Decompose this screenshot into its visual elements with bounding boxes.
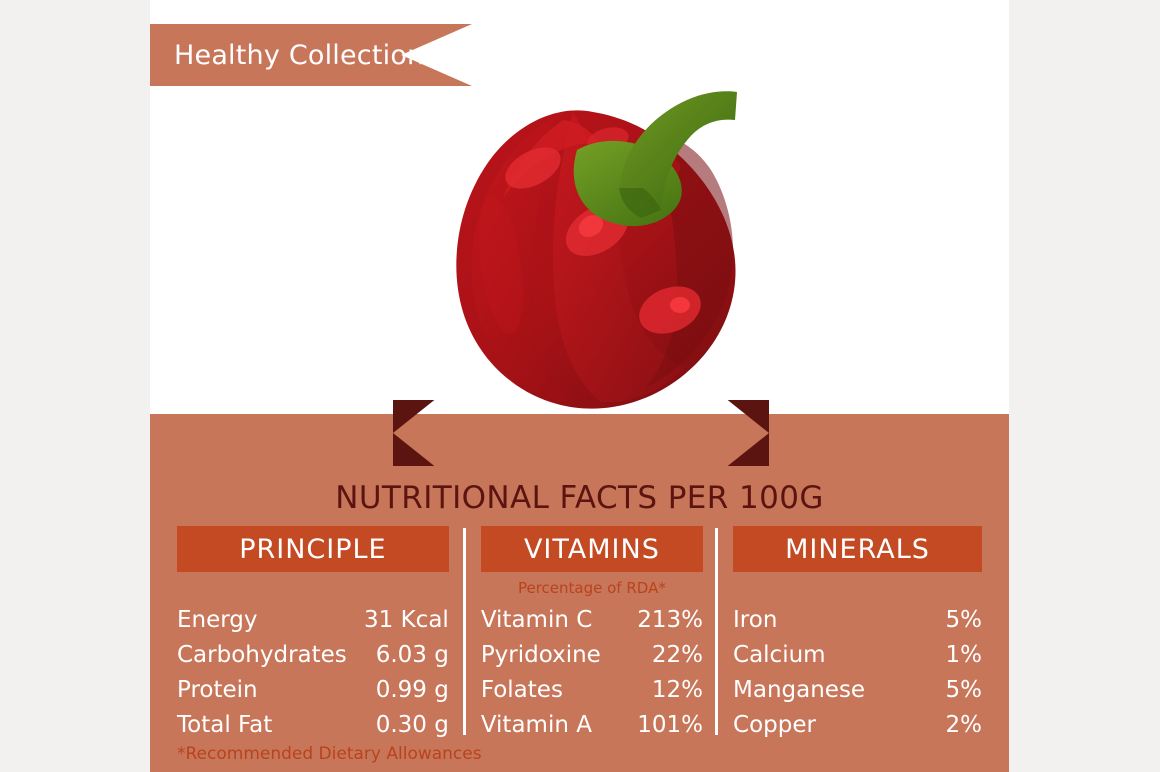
table-row: Carbohydrates 6.03 g: [177, 638, 449, 673]
table-row: Protein 0.99 g: [177, 673, 449, 708]
column-minerals: MINERALS Iron 5% Calcium 1% Manganese 5%: [718, 526, 982, 741]
rows-minerals: Iron 5% Calcium 1% Manganese 5% Copper 2…: [733, 603, 982, 743]
rows-vitamins: Vitamin C 213% Pyridoxine 22% Folates 12…: [481, 603, 703, 743]
row-label: Protein: [177, 673, 258, 708]
table-row: Manganese 5%: [733, 673, 982, 708]
column-header-minerals: MINERALS: [733, 526, 982, 572]
row-label: Total Fat: [177, 708, 272, 743]
flag-label: Healthy Collection: [174, 40, 424, 71]
row-label: Energy: [177, 603, 258, 638]
table-row: Total Fat 0.30 g: [177, 708, 449, 743]
column-header-vitamins: VITAMINS: [481, 526, 703, 572]
rows-principle: Energy 31 Kcal Carbohydrates 6.03 g Prot…: [177, 603, 449, 743]
row-value: 12%: [652, 673, 703, 708]
row-label: Vitamin A: [481, 708, 592, 743]
row-label: Folates: [481, 673, 563, 708]
row-label: Calcium: [733, 638, 826, 673]
row-value: 5%: [946, 603, 983, 638]
row-value: 6.03 g: [376, 638, 449, 673]
nutrition-panel: BELL PEPPERS NUTRITIONAL FACTS PER 100G …: [150, 414, 1009, 772]
row-value: 101%: [637, 708, 703, 743]
table-row: Folates 12%: [481, 673, 703, 708]
row-label: Iron: [733, 603, 777, 638]
row-value: 31 Kcal: [364, 603, 449, 638]
table-row: Energy 31 Kcal: [177, 603, 449, 638]
panel-subtitle: NUTRITIONAL FACTS PER 100G: [150, 480, 1009, 516]
row-label: Vitamin C: [481, 603, 592, 638]
product-title: BELL PEPPERS: [467, 416, 696, 451]
table-row: Copper 2%: [733, 708, 982, 743]
row-label: Carbohydrates: [177, 638, 347, 673]
infographic-card: Healthy Collection: [150, 0, 1009, 772]
row-value: 0.30 g: [376, 708, 449, 743]
bell-pepper-illustration: [405, 60, 765, 420]
table-row: Iron 5%: [733, 603, 982, 638]
row-value: 1%: [946, 638, 983, 673]
column-header-label: PRINCIPLE: [239, 534, 386, 565]
table-row: Vitamin A 101%: [481, 708, 703, 743]
row-value: 0.99 g: [376, 673, 449, 708]
table-row: Calcium 1%: [733, 638, 982, 673]
column-note-spacer: [177, 572, 449, 596]
rda-note: Percentage of RDA*: [481, 579, 703, 596]
column-principle: PRINCIPLE Energy 31 Kcal Carbohydrates 6…: [177, 526, 463, 741]
row-label: Copper: [733, 708, 816, 743]
column-vitamins: VITAMINS Percentage of RDA* Vitamin C 21…: [466, 526, 715, 741]
table-row: Pyridoxine 22%: [481, 638, 703, 673]
footnote: *Recommended Dietary Allowances: [177, 744, 482, 764]
row-label: Manganese: [733, 673, 865, 708]
column-header-principle: PRINCIPLE: [177, 526, 449, 572]
row-value: 22%: [652, 638, 703, 673]
row-value: 213%: [637, 603, 703, 638]
column-header-label: MINERALS: [785, 534, 930, 565]
column-header-label: VITAMINS: [524, 534, 660, 565]
column-note-spacer: [733, 572, 982, 596]
nutrition-columns: PRINCIPLE Energy 31 Kcal Carbohydrates 6…: [177, 526, 982, 741]
row-label: Pyridoxine: [481, 638, 601, 673]
table-row: Vitamin C 213%: [481, 603, 703, 638]
row-value: 2%: [946, 708, 983, 743]
row-value: 5%: [946, 673, 983, 708]
